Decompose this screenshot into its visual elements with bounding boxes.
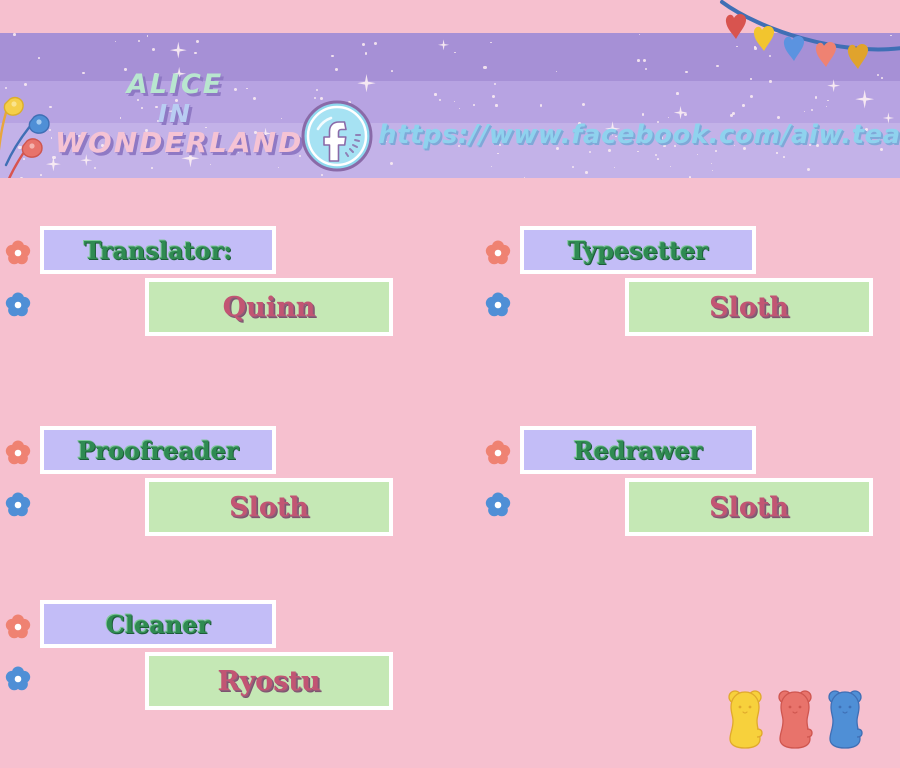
role-label: Proofreader — [77, 436, 238, 465]
sparkle-icon — [674, 106, 688, 120]
credit-name: Sloth — [709, 292, 789, 323]
sparkle-icon — [438, 39, 449, 50]
star-dot — [278, 167, 279, 168]
star-dot — [540, 104, 543, 107]
credit-name: Ryostu — [218, 666, 321, 697]
title-line-alice: ALICE — [55, 71, 295, 98]
star-dot — [742, 104, 745, 107]
star-dot — [362, 43, 365, 46]
bunting-flag-red — [726, 14, 746, 39]
star-dot — [194, 52, 197, 55]
credit-name: Sloth — [229, 492, 309, 523]
star-dot — [5, 87, 7, 89]
star-dot — [804, 111, 806, 113]
star-dot — [556, 71, 557, 72]
title-line-wonderland: WONDERLAND — [55, 129, 295, 157]
star-dot — [811, 109, 814, 112]
star-dot — [730, 114, 733, 117]
balloon-red — [22, 139, 42, 157]
star-dot — [807, 168, 810, 171]
star-dot — [115, 41, 116, 42]
star-dot — [454, 101, 455, 102]
flower-icon-coral — [5, 614, 31, 640]
bunting-flag-blue — [784, 36, 804, 61]
star-dot — [434, 93, 436, 95]
star-dot — [715, 150, 717, 152]
star-dot — [365, 52, 368, 55]
star-dot — [572, 166, 574, 168]
balloons-decoration — [0, 95, 76, 178]
star-dot — [454, 52, 455, 53]
star-dot — [492, 95, 495, 98]
star-dot — [642, 113, 645, 116]
star-dot — [589, 151, 591, 153]
facebook-url[interactable]: https://www.facebook.com/aiw.team — [378, 120, 900, 150]
bunting-decoration — [690, 0, 900, 101]
star-dot — [321, 174, 323, 176]
credits-list: Translator:QuinnTypesetterSlothProofread… — [0, 178, 900, 768]
star-dot — [335, 68, 338, 71]
star-dot — [783, 156, 785, 158]
role-label: Redrawer — [574, 436, 703, 465]
star-dot — [152, 48, 155, 51]
flower-icon-coral — [485, 240, 511, 266]
name-box[interactable]: Sloth — [145, 478, 393, 536]
star-dot — [643, 59, 646, 62]
star-dot — [316, 89, 318, 91]
star-dot — [637, 151, 639, 153]
star-dot — [712, 170, 714, 172]
star-dot — [711, 163, 712, 164]
role-box[interactable]: Typesetter — [520, 226, 756, 274]
credit-name: Quinn — [223, 292, 316, 323]
flower-icon-coral — [5, 440, 31, 466]
gummy-bear-red — [779, 691, 812, 748]
sparkle-icon — [170, 42, 187, 59]
star-dot — [24, 83, 27, 86]
star-dot — [490, 42, 492, 44]
flower-icon-blue — [5, 492, 31, 518]
gummy-bear-blue — [829, 691, 862, 748]
star-dot — [585, 171, 588, 174]
star-dot — [491, 166, 492, 167]
star-dot — [94, 167, 96, 169]
star-dot — [639, 34, 640, 35]
bunting-flag-yellow — [754, 26, 774, 51]
star-dot — [657, 158, 659, 160]
star-dot — [439, 99, 441, 101]
star-dot — [732, 112, 735, 115]
star-dot — [697, 154, 699, 156]
gummy-bears-decoration — [725, 688, 870, 750]
star-dot — [151, 167, 153, 169]
star-dot — [13, 33, 16, 36]
star-dot — [676, 92, 679, 95]
star-dot — [390, 162, 393, 165]
gummy-bear-yellow — [729, 691, 762, 748]
facebook-icon[interactable] — [300, 99, 374, 173]
role-box[interactable]: Cleaner — [40, 600, 276, 648]
flower-icon-blue — [485, 492, 511, 518]
star-dot — [614, 167, 616, 169]
role-box[interactable]: Translator: — [40, 226, 276, 274]
star-dot — [670, 166, 671, 167]
star-dot — [138, 40, 140, 42]
name-box[interactable]: Sloth — [625, 478, 873, 536]
star-dot — [645, 68, 647, 70]
role-label: Translator: — [84, 236, 233, 265]
star-dot — [147, 35, 148, 36]
star-dot — [473, 104, 475, 106]
balloon-yellow — [4, 98, 23, 116]
star-dot — [685, 71, 688, 74]
star-dot — [776, 152, 777, 153]
star-dot — [196, 40, 199, 43]
credits-page: ALICE IN WONDERLAND https://www.facebook… — [0, 0, 900, 768]
star-dot — [210, 164, 211, 165]
star-dot — [374, 42, 377, 45]
sparkle-icon — [357, 74, 375, 92]
star-dot — [777, 116, 780, 119]
bunting-flag-orange — [848, 44, 868, 69]
star-dot — [459, 108, 460, 109]
role-box[interactable]: Proofreader — [40, 426, 276, 474]
role-label: Cleaner — [106, 610, 210, 639]
credit-name: Sloth — [709, 492, 789, 523]
star-dot — [668, 117, 670, 119]
name-box[interactable]: Quinn — [145, 278, 393, 336]
flower-icon-coral — [5, 240, 31, 266]
flower-icon-coral — [485, 440, 511, 466]
bunting-flag-salmon — [816, 42, 836, 67]
title-line-in: IN — [55, 101, 295, 126]
star-dot — [483, 66, 486, 69]
name-box[interactable]: Ryostu — [145, 652, 393, 710]
page-title: ALICE IN WONDERLAND — [55, 71, 295, 157]
star-dot — [637, 59, 640, 62]
balloon-blue — [29, 115, 49, 133]
flower-icon-blue — [485, 292, 511, 318]
star-dot — [684, 113, 687, 116]
star-dot — [494, 83, 496, 85]
star-dot — [655, 154, 657, 156]
star-dot — [391, 70, 393, 72]
role-label: Typesetter — [568, 236, 708, 265]
star-dot — [495, 104, 497, 106]
role-box[interactable]: Redrawer — [520, 426, 756, 474]
star-dot — [582, 103, 585, 106]
star-dot — [331, 55, 334, 58]
flower-icon-blue — [5, 292, 31, 318]
name-box[interactable]: Sloth — [625, 278, 873, 336]
star-dot — [497, 153, 498, 154]
star-dot — [38, 57, 40, 59]
star-dot — [826, 106, 827, 107]
flower-icon-blue — [5, 666, 31, 692]
